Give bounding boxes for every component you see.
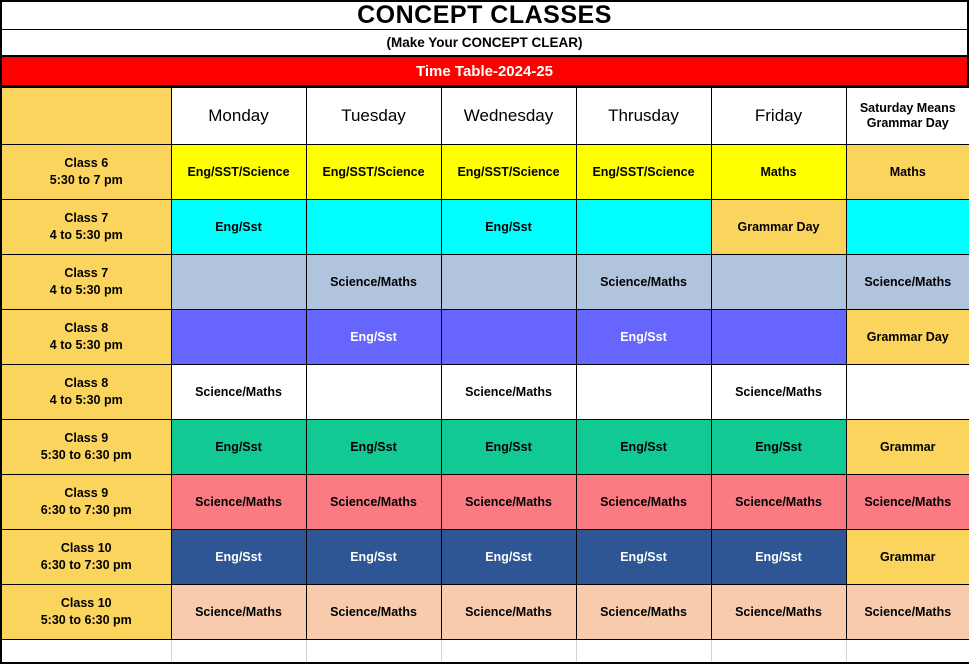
schedule-cell-friday: Science/Maths — [711, 475, 846, 530]
schedule-cell-monday: Science/Maths — [171, 365, 306, 420]
row-label-cell: Class 95:30 to 6:30 pm — [1, 420, 171, 475]
page-title: CONCEPT CLASSES — [357, 3, 612, 28]
schedule-cell-saturday: Science/Maths — [846, 255, 969, 310]
title-bar: CONCEPT CLASSES — [0, 0, 969, 30]
schedule-cell-friday: Eng/Sst — [711, 530, 846, 585]
timetable-body: Class 65:30 to 7 pmEng/SST/ScienceEng/SS… — [1, 145, 969, 663]
schedule-cell-monday: Eng/Sst — [171, 530, 306, 585]
row-label-cell: Class 74 to 5:30 pm — [1, 255, 171, 310]
table-row: Class 96:30 to 7:30 pmScience/MathsScien… — [1, 475, 969, 530]
schedule-cell-friday: Grammar Day — [711, 200, 846, 255]
schedule-cell-saturday — [846, 200, 969, 255]
schedule-cell-thursday: Eng/Sst — [576, 310, 711, 365]
schedule-cell-saturday — [846, 365, 969, 420]
row-class-name: Class 10 — [2, 540, 171, 557]
column-header-monday: Monday — [171, 88, 306, 145]
schedule-cell-tuesday: Eng/Sst — [306, 530, 441, 585]
schedule-cell-thursday — [576, 200, 711, 255]
row-class-name: Class 6 — [2, 155, 171, 172]
schedule-cell-wednesday: Science/Maths — [441, 585, 576, 640]
blank-cell — [441, 640, 576, 663]
trailing-blank-row — [1, 640, 969, 663]
schedule-cell-tuesday: Science/Maths — [306, 255, 441, 310]
schedule-cell-friday — [711, 310, 846, 365]
table-row: Class 74 to 5:30 pmScience/MathsScience/… — [1, 255, 969, 310]
blank-cell — [306, 640, 441, 663]
schedule-cell-saturday: Grammar — [846, 530, 969, 585]
row-class-time: 6:30 to 7:30 pm — [2, 502, 171, 519]
schedule-cell-tuesday: Eng/Sst — [306, 310, 441, 365]
schedule-cell-thursday: Eng/Sst — [576, 420, 711, 475]
banner-label: Time Table-2024-25 — [416, 63, 553, 80]
page-subtitle: (Make Your CONCEPT CLEAR) — [386, 35, 582, 50]
timetable: Monday Tuesday Wednesday Thrusday Friday… — [0, 87, 969, 664]
schedule-cell-monday: Eng/SST/Science — [171, 145, 306, 200]
schedule-cell-thursday: Science/Maths — [576, 475, 711, 530]
schedule-cell-friday: Science/Maths — [711, 585, 846, 640]
schedule-cell-monday: Science/Maths — [171, 585, 306, 640]
column-header-wednesday: Wednesday — [441, 88, 576, 145]
table-row: Class 84 to 5:30 pmEng/SstEng/SstGrammar… — [1, 310, 969, 365]
schedule-cell-thursday: Science/Maths — [576, 255, 711, 310]
schedule-cell-wednesday: Eng/Sst — [441, 420, 576, 475]
row-class-name: Class 9 — [2, 430, 171, 447]
schedule-cell-wednesday: Eng/Sst — [441, 530, 576, 585]
timetable-sheet: CONCEPT CLASSES (Make Your CONCEPT CLEAR… — [0, 0, 969, 648]
row-class-time: 4 to 5:30 pm — [2, 227, 171, 244]
row-class-time: 5:30 to 6:30 pm — [2, 447, 171, 464]
row-class-name: Class 10 — [2, 595, 171, 612]
row-label-cell: Class 84 to 5:30 pm — [1, 365, 171, 420]
blank-cell — [711, 640, 846, 663]
table-row: Class 65:30 to 7 pmEng/SST/ScienceEng/SS… — [1, 145, 969, 200]
blank-cell — [1, 640, 171, 663]
schedule-cell-tuesday — [306, 365, 441, 420]
table-row: Class 74 to 5:30 pmEng/SstEng/SstGrammar… — [1, 200, 969, 255]
header-corner-cell — [1, 88, 171, 145]
schedule-cell-friday: Maths — [711, 145, 846, 200]
table-row: Class 84 to 5:30 pmScience/MathsScience/… — [1, 365, 969, 420]
subtitle-bar: (Make Your CONCEPT CLEAR) — [0, 30, 969, 57]
row-label-cell: Class 106:30 to 7:30 pm — [1, 530, 171, 585]
table-row: Class 106:30 to 7:30 pmEng/SstEng/SstEng… — [1, 530, 969, 585]
header-row: Monday Tuesday Wednesday Thrusday Friday… — [1, 88, 969, 145]
schedule-cell-friday: Science/Maths — [711, 365, 846, 420]
row-class-time: 4 to 5:30 pm — [2, 392, 171, 409]
timetable-banner: Time Table-2024-25 — [0, 57, 969, 87]
schedule-cell-wednesday: Eng/SST/Science — [441, 145, 576, 200]
table-row: Class 105:30 to 6:30 pmScience/MathsScie… — [1, 585, 969, 640]
schedule-cell-friday: Eng/Sst — [711, 420, 846, 475]
schedule-cell-saturday: Grammar — [846, 420, 969, 475]
schedule-cell-saturday: Maths — [846, 145, 969, 200]
schedule-cell-monday: Eng/Sst — [171, 200, 306, 255]
schedule-cell-tuesday: Eng/SST/Science — [306, 145, 441, 200]
schedule-cell-wednesday — [441, 255, 576, 310]
column-header-tuesday: Tuesday — [306, 88, 441, 145]
schedule-cell-monday — [171, 310, 306, 365]
row-class-time: 5:30 to 6:30 pm — [2, 612, 171, 629]
timetable-header: Monday Tuesday Wednesday Thrusday Friday… — [1, 88, 969, 145]
row-class-time: 5:30 to 7 pm — [2, 172, 171, 189]
column-header-friday: Friday — [711, 88, 846, 145]
row-label-cell: Class 65:30 to 7 pm — [1, 145, 171, 200]
row-class-name: Class 7 — [2, 265, 171, 282]
schedule-cell-monday — [171, 255, 306, 310]
row-class-name: Class 8 — [2, 375, 171, 392]
row-class-time: 4 to 5:30 pm — [2, 337, 171, 354]
column-header-saturday: Saturday Means Grammar Day — [846, 88, 969, 145]
schedule-cell-thursday: Eng/Sst — [576, 530, 711, 585]
schedule-cell-saturday: Grammar Day — [846, 310, 969, 365]
row-label-cell: Class 105:30 to 6:30 pm — [1, 585, 171, 640]
schedule-cell-tuesday — [306, 200, 441, 255]
schedule-cell-wednesday: Eng/Sst — [441, 200, 576, 255]
schedule-cell-tuesday: Science/Maths — [306, 585, 441, 640]
schedule-cell-saturday: Science/Maths — [846, 475, 969, 530]
schedule-cell-friday — [711, 255, 846, 310]
blank-cell — [171, 640, 306, 663]
schedule-cell-thursday — [576, 365, 711, 420]
schedule-cell-wednesday: Science/Maths — [441, 475, 576, 530]
column-header-thursday: Thrusday — [576, 88, 711, 145]
row-class-name: Class 7 — [2, 210, 171, 227]
schedule-cell-tuesday: Eng/Sst — [306, 420, 441, 475]
blank-cell — [846, 640, 969, 663]
row-class-name: Class 8 — [2, 320, 171, 337]
row-class-time: 6:30 to 7:30 pm — [2, 557, 171, 574]
schedule-cell-monday: Science/Maths — [171, 475, 306, 530]
schedule-cell-tuesday: Science/Maths — [306, 475, 441, 530]
schedule-cell-thursday: Eng/SST/Science — [576, 145, 711, 200]
blank-cell — [576, 640, 711, 663]
row-label-cell: Class 96:30 to 7:30 pm — [1, 475, 171, 530]
row-label-cell: Class 84 to 5:30 pm — [1, 310, 171, 365]
row-class-time: 4 to 5:30 pm — [2, 282, 171, 299]
schedule-cell-thursday: Science/Maths — [576, 585, 711, 640]
schedule-cell-wednesday: Science/Maths — [441, 365, 576, 420]
table-row: Class 95:30 to 6:30 pmEng/SstEng/SstEng/… — [1, 420, 969, 475]
schedule-cell-monday: Eng/Sst — [171, 420, 306, 475]
schedule-cell-saturday: Science/Maths — [846, 585, 969, 640]
schedule-cell-wednesday — [441, 310, 576, 365]
row-label-cell: Class 74 to 5:30 pm — [1, 200, 171, 255]
row-class-name: Class 9 — [2, 485, 171, 502]
